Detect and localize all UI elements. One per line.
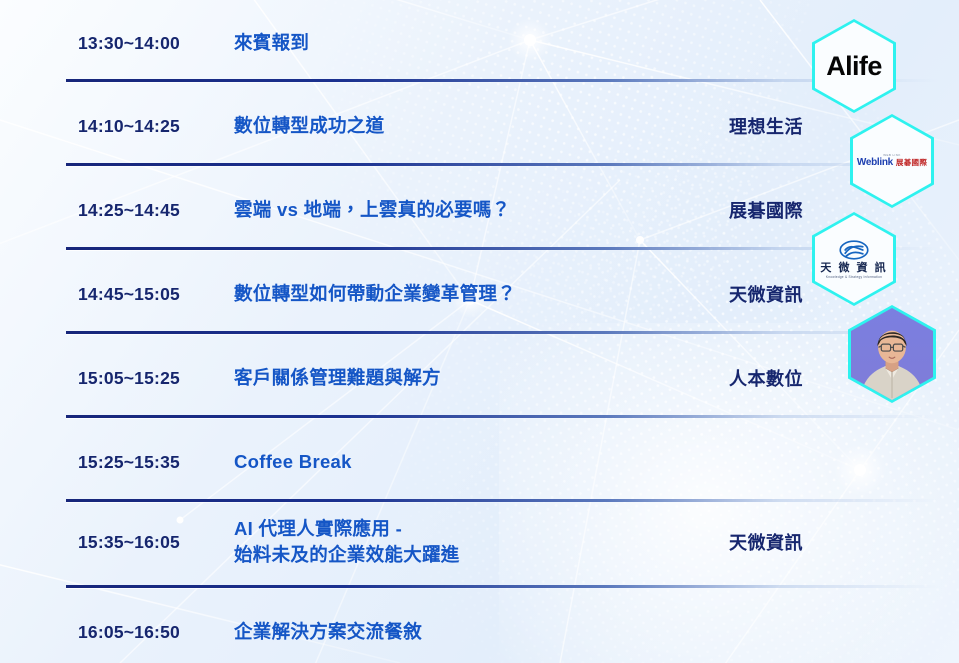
- agenda-row-time: 14:45~15:05: [78, 284, 228, 305]
- agenda-table: 13:30~14:00 來賓報到 14:10~14:25 數位轉型成功之道 理想…: [0, 0, 959, 663]
- agenda-row-separator: [66, 415, 938, 418]
- hexagon-inner: WEB LINK Weblink 展碁國際: [853, 117, 931, 205]
- tianwei-english-tagline: Knowledge & Strategy Information: [826, 276, 882, 279]
- weblink-chinese-name: 展碁國際: [896, 159, 927, 167]
- agenda-row-org: 天微資訊: [729, 529, 959, 555]
- agenda-row: 16:05~16:50 企業解決方案交流餐敘: [0, 615, 959, 649]
- agenda-row-title: 數位轉型成功之道: [228, 113, 729, 139]
- alife-wordmark: Alife: [826, 53, 882, 80]
- agenda-row: 15:25~15:35 Coffee Break: [0, 445, 959, 479]
- agenda-row: 15:35~16:05 AI 代理人實際應用 - 始料未及的企業效能大躍進 天微…: [0, 514, 959, 570]
- agenda-row-time: 15:05~15:25: [78, 368, 228, 389]
- agenda-row-separator: [66, 163, 938, 166]
- agenda-row-title: 企業解決方案交流餐敘: [228, 619, 729, 645]
- agenda-row-title: 雲端 vs 地端，上雲真的必要嗎？: [228, 197, 729, 223]
- agenda-row-separator: [66, 499, 938, 502]
- agenda-row-time: 14:25~14:45: [78, 200, 228, 221]
- agenda-row-separator: [66, 331, 938, 334]
- agenda-row-time: 14:10~14:25: [78, 116, 228, 137]
- agenda-row: 15:05~15:25 客戶關係管理難題與解方 人本數位: [0, 361, 959, 395]
- agenda-row: 14:10~14:25 數位轉型成功之道 理想生活: [0, 109, 959, 143]
- hexagon-inner: Alife: [815, 22, 893, 110]
- agenda-row-time: 16:05~16:50: [78, 622, 228, 643]
- agenda-slide: 13:30~14:00 來賓報到 14:10~14:25 數位轉型成功之道 理想…: [0, 0, 959, 663]
- agenda-row-separator: [66, 79, 938, 82]
- agenda-row-title: AI 代理人實際應用 - 始料未及的企業效能大躍進: [228, 516, 729, 569]
- agenda-row-title: Coffee Break: [228, 449, 729, 475]
- agenda-row: 14:25~14:45 雲端 vs 地端，上雲真的必要嗎？ 展碁國際: [0, 193, 959, 227]
- agenda-row-title: 客戶關係管理難題與解方: [228, 365, 729, 391]
- weblink-wordmark: Weblink: [857, 158, 893, 168]
- agenda-row-time: 13:30~14:00: [78, 33, 228, 54]
- agenda-row-time: 15:25~15:35: [78, 452, 228, 473]
- agenda-row-title: 數位轉型如何帶動企業變革管理？: [228, 281, 729, 307]
- speaker-photo: [851, 308, 933, 400]
- agenda-row-separator: [66, 247, 938, 250]
- hexagon-inner: [851, 308, 933, 400]
- tianwei-chinese-name: 天 微 資 訊: [820, 263, 887, 274]
- agenda-row-title: 來賓報到: [228, 30, 729, 56]
- hexagon-inner: 天 微 資 訊 Knowledge & Strategy Information: [815, 215, 893, 303]
- tianwei-swirl-icon: [837, 239, 871, 261]
- weblink-logo-lockup: WEB LINK Weblink 展碁國際: [857, 154, 927, 168]
- weblink-main-lockup: Weblink 展碁國際: [857, 158, 927, 168]
- agenda-row-time: 15:35~16:05: [78, 532, 228, 553]
- agenda-row-separator: [66, 585, 938, 588]
